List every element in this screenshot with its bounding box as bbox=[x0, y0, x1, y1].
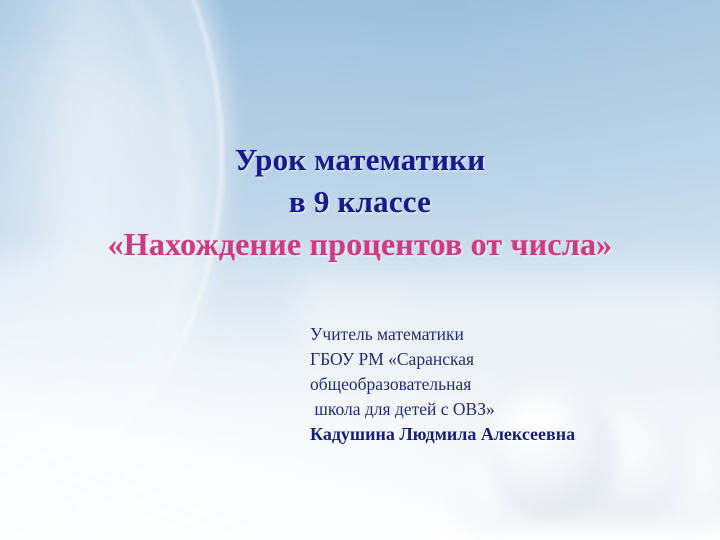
slide-title: Урок математики в 9 классе «Нахождение п… bbox=[0, 139, 720, 265]
author-line-school-2: общеобразовательная bbox=[310, 372, 575, 397]
author-line-school-3: школа для детей с ОВЗ» bbox=[310, 397, 575, 422]
author-block: Учитель математики ГБОУ РМ «Саранская об… bbox=[310, 322, 575, 447]
author-line-name: Кадушина Людмила Алексеевна bbox=[310, 422, 575, 447]
author-line-role: Учитель математики bbox=[310, 322, 575, 347]
title-line-2: в 9 классе bbox=[0, 181, 720, 223]
author-line-school-1: ГБОУ РМ «Саранская bbox=[310, 347, 575, 372]
title-line-1: Урок математики bbox=[0, 139, 720, 181]
presentation-slide: Урок математики в 9 классе «Нахождение п… bbox=[0, 0, 720, 540]
title-line-3-topic: «Нахождение процентов от числа» bbox=[0, 223, 720, 265]
slide-content: Урок математики в 9 классе «Нахождение п… bbox=[0, 0, 720, 540]
